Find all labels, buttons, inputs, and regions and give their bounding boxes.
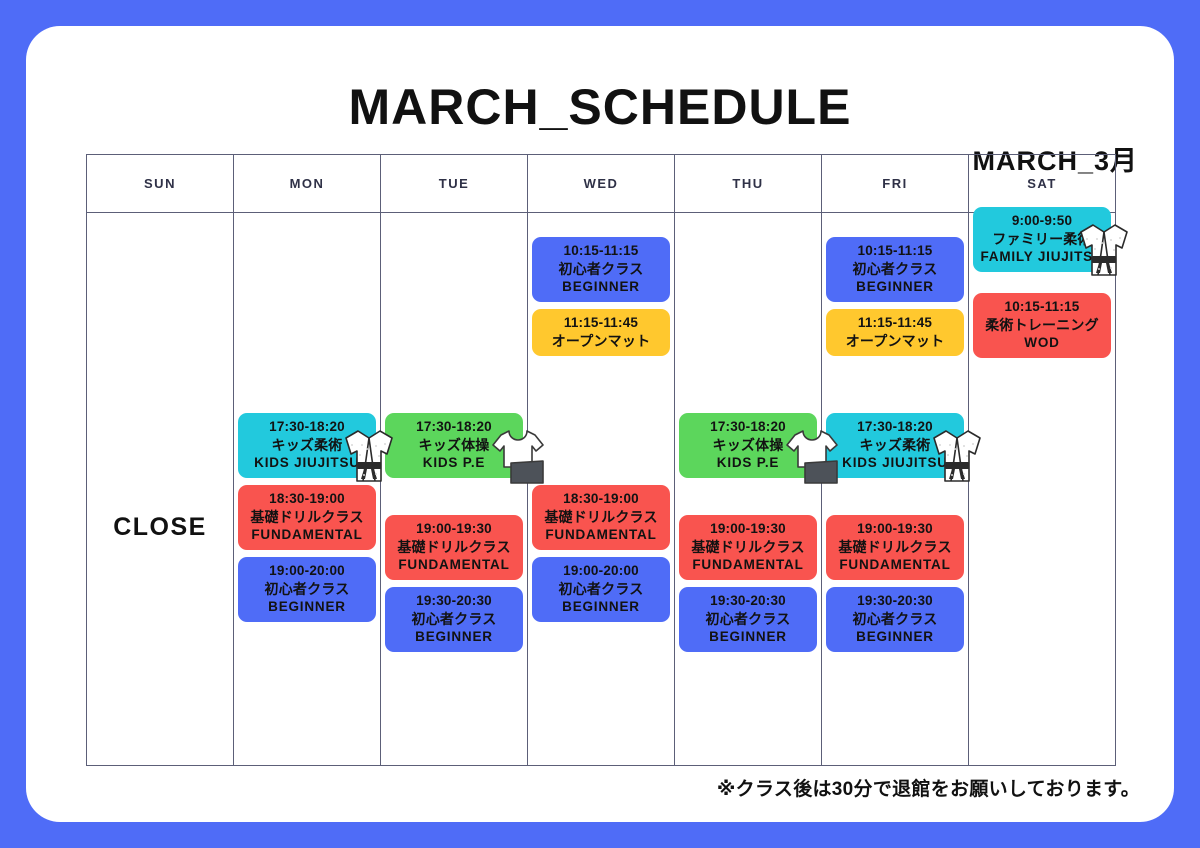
class-name-en: KIDS JIUJITSU (240, 454, 374, 472)
class-time: 18:30-19:00 (240, 490, 374, 508)
class-block[interactable]: 18:30-19:00基礎ドリルクラスFUNDAMENTAL (532, 485, 670, 550)
class-block[interactable]: 19:30-20:30初心者クラスBEGINNER (826, 587, 964, 652)
class-name-en: WOD (975, 334, 1109, 352)
class-block[interactable]: 10:15-11:15初心者クラスBEGINNER (826, 237, 964, 302)
class-name-jp: キッズ柔術 (240, 436, 374, 454)
class-name-en: FAMILY JIUJITSU (975, 248, 1109, 266)
class-name-jp: 初心者クラス (681, 610, 815, 628)
closed-label: CLOSE (87, 513, 233, 542)
class-name-en: BEGINNER (387, 628, 521, 646)
class-name-en: BEGINNER (534, 278, 668, 296)
class-name-en: KIDS JIUJITSU (828, 454, 962, 472)
class-name-en: FUNDAMENTAL (681, 556, 815, 574)
weekday-header-sun: SUN (87, 155, 234, 212)
class-time: 10:15-11:15 (828, 242, 962, 260)
class-name-jp: 初心者クラス (534, 580, 668, 598)
class-name-en: BEGINNER (240, 598, 374, 616)
class-name-jp: 初心者クラス (534, 260, 668, 278)
class-block[interactable]: 18:30-19:00基礎ドリルクラスFUNDAMENTAL (238, 485, 376, 550)
weekday-header-row: SUNMONTUEWEDTHUFRISAT (87, 155, 1115, 213)
class-name-jp: 初心者クラス (387, 610, 521, 628)
class-time: 19:00-19:30 (828, 520, 962, 538)
class-name-jp: キッズ体操 (681, 436, 815, 454)
class-block[interactable]: 17:30-18:20キッズ柔術KIDS JIUJITSU (238, 413, 376, 478)
class-time: 10:15-11:15 (534, 242, 668, 260)
class-block[interactable]: 10:15-11:15柔術トレーニングWOD (973, 293, 1111, 358)
class-name-en: KIDS P.E (387, 454, 521, 472)
class-time: 19:00-19:30 (387, 520, 521, 538)
day-column-sat: 9:00-9:50ファミリー柔術FAMILY JIUJITSU 10:15-11… (969, 213, 1115, 765)
day-column-thu: 17:30-18:20キッズ体操KIDS P.E 19:00-19:30基礎ドリ… (675, 213, 822, 765)
day-column-sun: CLOSE (87, 213, 234, 765)
class-name-en: BEGINNER (828, 628, 962, 646)
class-time: 19:00-19:30 (681, 520, 815, 538)
class-name-en: FUNDAMENTAL (387, 556, 521, 574)
class-block[interactable]: 19:30-20:30初心者クラスBEGINNER (679, 587, 817, 652)
class-name-en: FUNDAMENTAL (828, 556, 962, 574)
weekday-header-mon: MON (234, 155, 381, 212)
class-block[interactable]: 17:30-18:20キッズ体操KIDS P.E (679, 413, 817, 478)
class-name-jp: 初心者クラス (828, 260, 962, 278)
class-name-jp: 柔術トレーニング (975, 316, 1109, 334)
weekday-header-sat: SAT (969, 155, 1115, 212)
page-title: MARCH_SCHEDULE (26, 78, 1174, 136)
day-column-wed: 10:15-11:15初心者クラスBEGINNER11:15-11:45オープン… (528, 213, 675, 765)
class-block[interactable]: 11:15-11:45オープンマット (532, 309, 670, 356)
class-name-en: KIDS P.E (681, 454, 815, 472)
class-name-jp: キッズ体操 (387, 436, 521, 454)
class-block[interactable]: 19:00-19:30基礎ドリルクラスFUNDAMENTAL (679, 515, 817, 580)
class-block[interactable]: 11:15-11:45オープンマット (826, 309, 964, 356)
class-time: 10:15-11:15 (975, 298, 1109, 316)
class-name-en: BEGINNER (534, 598, 668, 616)
class-block[interactable]: 19:30-20:30初心者クラスBEGINNER (385, 587, 523, 652)
day-column-mon: 17:30-18:20キッズ柔術KIDS JIUJITSU 18:30-19:0… (234, 213, 381, 765)
class-name-jp: 初心者クラス (240, 580, 374, 598)
class-block[interactable]: 9:00-9:50ファミリー柔術FAMILY JIUJITSU (973, 207, 1111, 272)
class-name-jp: 基礎ドリルクラス (534, 508, 668, 526)
schedule-body-row: CLOSE17:30-18:20キッズ柔術KIDS JIUJITSU 18:30… (87, 213, 1115, 765)
weekday-header-fri: FRI (822, 155, 969, 212)
class-name-jp: キッズ柔術 (828, 436, 962, 454)
class-name-en: FUNDAMENTAL (534, 526, 668, 544)
schedule-grid: SUNMONTUEWEDTHUFRISAT CLOSE17:30-18:20キッ… (86, 154, 1116, 766)
class-name-jp: オープンマット (828, 332, 962, 350)
day-column-fri: 10:15-11:15初心者クラスBEGINNER11:15-11:45オープン… (822, 213, 969, 765)
class-name-jp: ファミリー柔術 (975, 230, 1109, 248)
class-block[interactable]: 17:30-18:20キッズ柔術KIDS JIUJITSU (826, 413, 964, 478)
class-time: 19:00-20:00 (534, 562, 668, 580)
weekday-header-tue: TUE (381, 155, 528, 212)
class-name-jp: 基礎ドリルクラス (681, 538, 815, 556)
class-time: 19:30-20:30 (828, 592, 962, 610)
class-time: 17:30-18:20 (240, 418, 374, 436)
class-time: 19:30-20:30 (681, 592, 815, 610)
class-name-jp: 基礎ドリルクラス (387, 538, 521, 556)
class-time: 17:30-18:20 (681, 418, 815, 436)
class-time: 19:30-20:30 (387, 592, 521, 610)
day-column-tue: 17:30-18:20キッズ体操KIDS P.E 19:00-19:30基礎ドリ… (381, 213, 528, 765)
class-block[interactable]: 10:15-11:15初心者クラスBEGINNER (532, 237, 670, 302)
class-time: 17:30-18:20 (387, 418, 521, 436)
class-name-jp: 基礎ドリルクラス (240, 508, 374, 526)
class-time: 19:00-20:00 (240, 562, 374, 580)
class-block[interactable]: 19:00-19:30基礎ドリルクラスFUNDAMENTAL (385, 515, 523, 580)
weekday-header-thu: THU (675, 155, 822, 212)
class-block[interactable]: 17:30-18:20キッズ体操KIDS P.E (385, 413, 523, 478)
schedule-card: MARCH_SCHEDULE MARCH_3月 SUNMONTUEWEDTHUF… (26, 26, 1174, 822)
class-time: 11:15-11:45 (534, 314, 668, 332)
class-name-en: FUNDAMENTAL (240, 526, 374, 544)
weekday-header-wed: WED (528, 155, 675, 212)
footnote: ※クラス後は30分で退館をお願いしております。 (717, 774, 1140, 801)
class-block[interactable]: 19:00-20:00初心者クラスBEGINNER (238, 557, 376, 622)
class-name-jp: 基礎ドリルクラス (828, 538, 962, 556)
class-name-jp: 初心者クラス (828, 610, 962, 628)
class-name-jp: オープンマット (534, 332, 668, 350)
class-time: 11:15-11:45 (828, 314, 962, 332)
class-block[interactable]: 19:00-19:30基礎ドリルクラスFUNDAMENTAL (826, 515, 964, 580)
class-time: 17:30-18:20 (828, 418, 962, 436)
class-time: 18:30-19:00 (534, 490, 668, 508)
class-block[interactable]: 19:00-20:00初心者クラスBEGINNER (532, 557, 670, 622)
class-time: 9:00-9:50 (975, 212, 1109, 230)
class-name-en: BEGINNER (681, 628, 815, 646)
class-name-en: BEGINNER (828, 278, 962, 296)
